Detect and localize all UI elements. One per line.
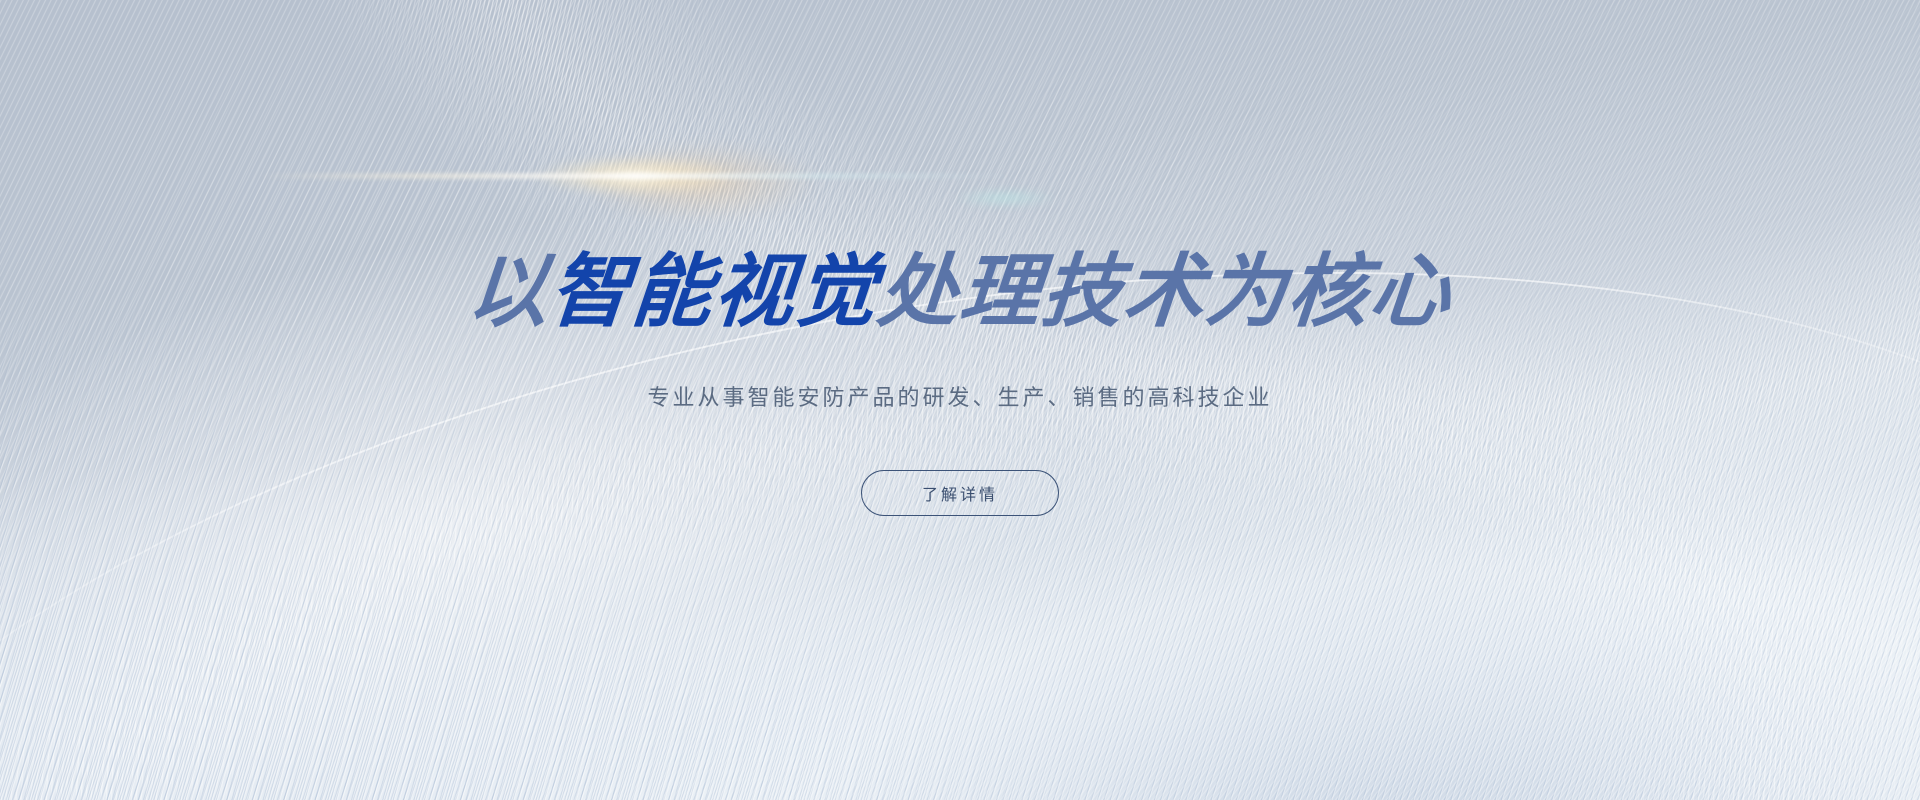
headline-segment-2: 智能视觉 <box>546 245 882 338</box>
hero-banner: 以智能视觉处理技术为核心 专业从事智能安防产品的研发、生产、销售的高科技企业 了… <box>0 0 1920 800</box>
page-subtitle: 专业从事智能安防产品的研发、生产、销售的高科技企业 <box>647 380 1272 412</box>
learn-more-button[interactable]: 了解详情 <box>861 470 1059 516</box>
hero-content: 以智能视觉处理技术为核心 专业从事智能安防产品的研发、生产、销售的高科技企业 了… <box>0 0 1920 800</box>
headline-segment-1: 以 <box>464 245 554 338</box>
page-title: 以智能视觉处理技术为核心 <box>465 252 1456 332</box>
headline-segment-3: 处理技术为核心 <box>874 245 1456 338</box>
